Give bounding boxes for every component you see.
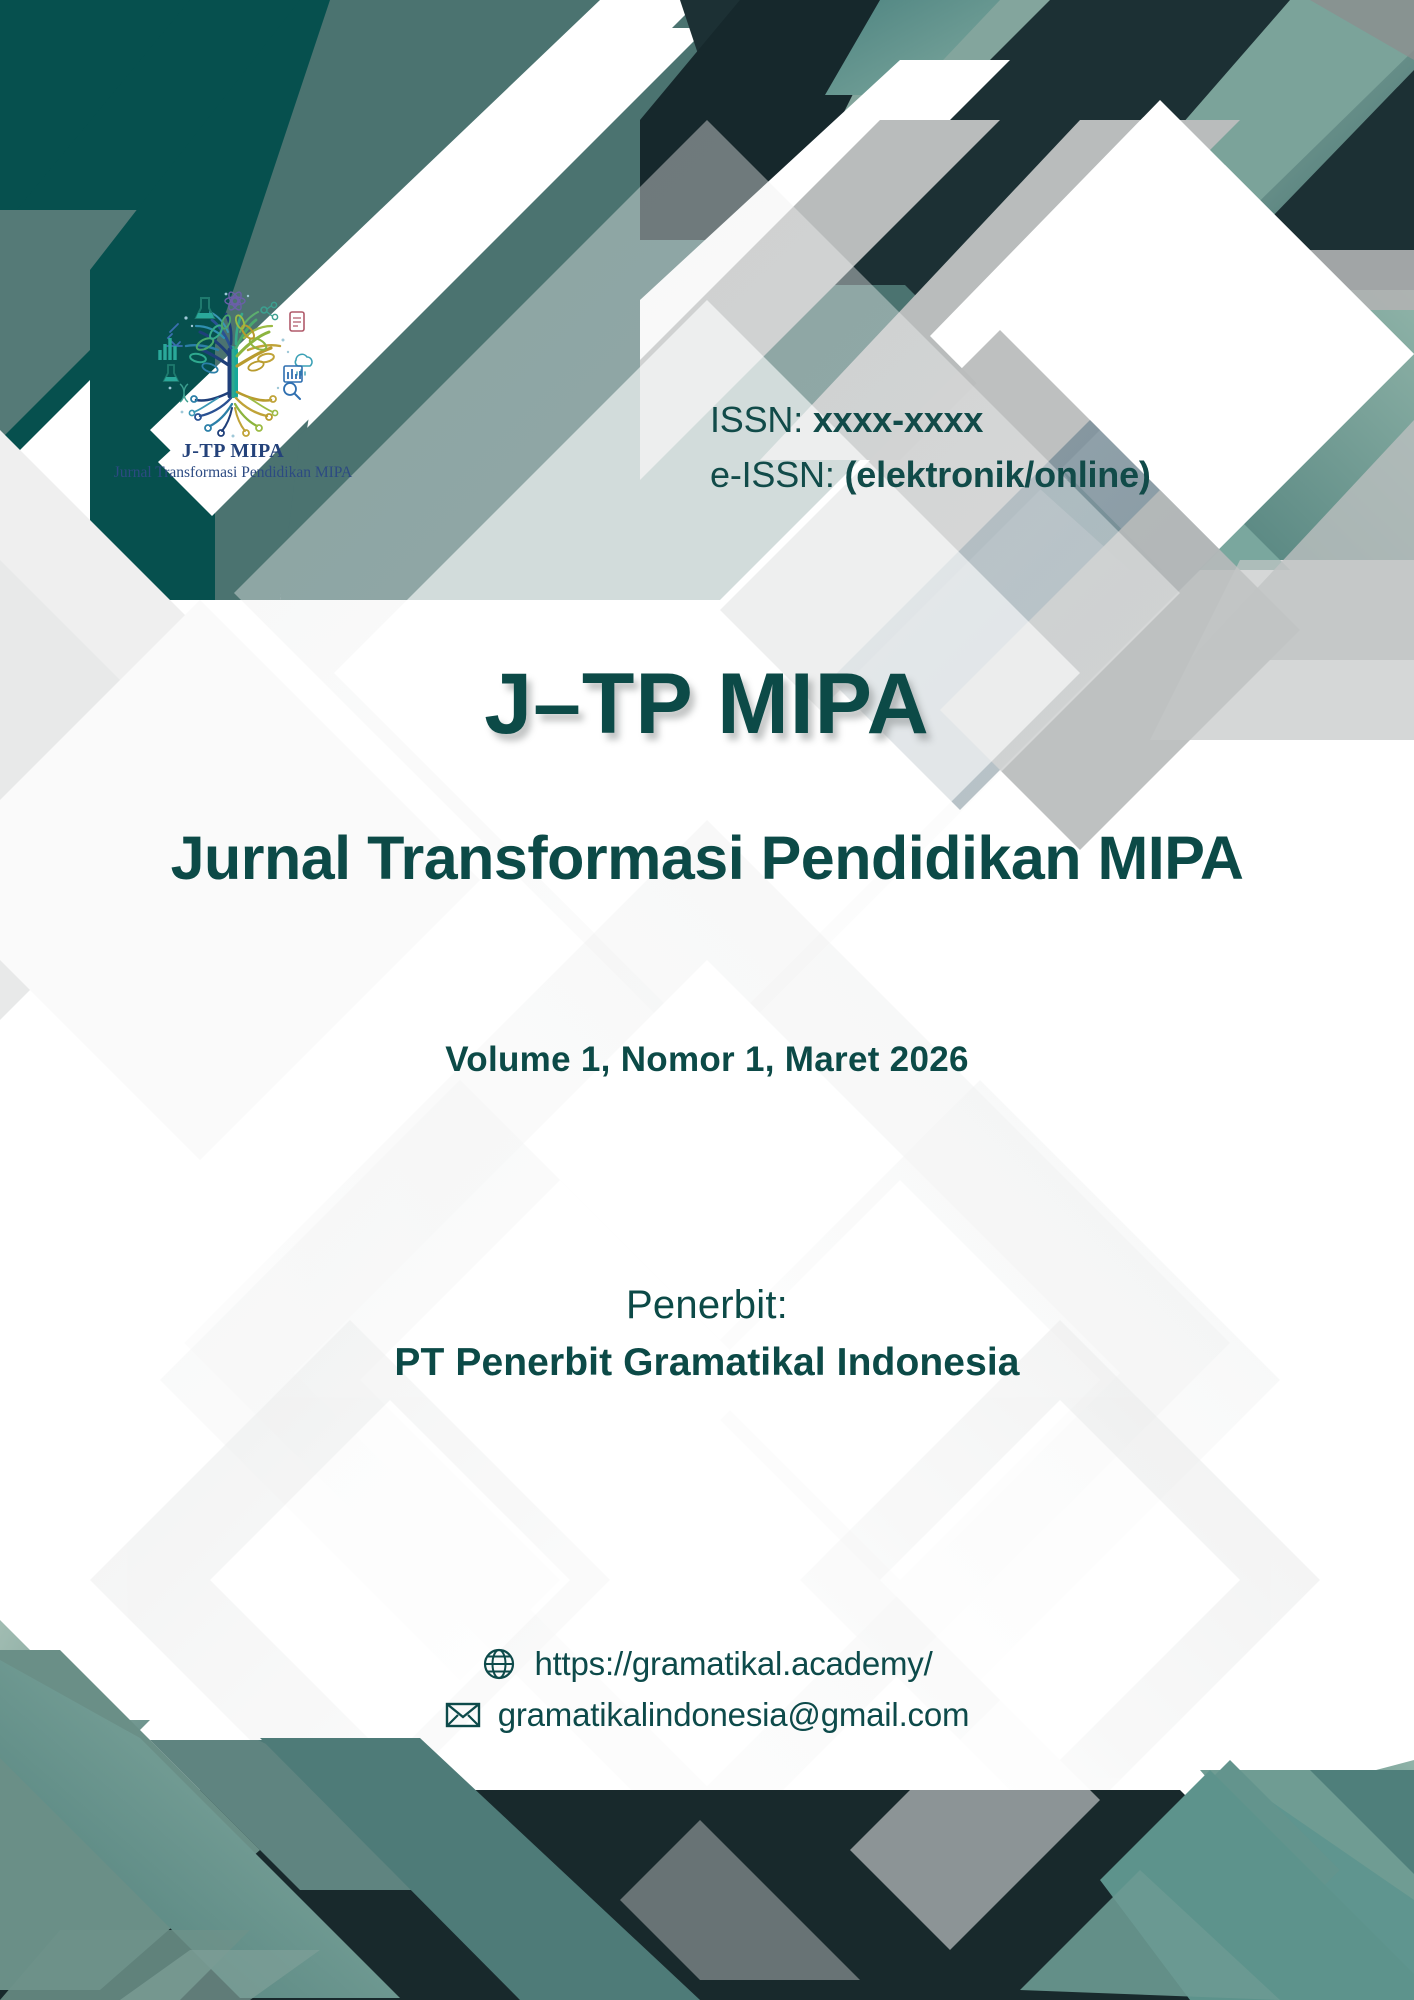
- volume-issue-line: Volume 1, Nomor 1, Maret 2026: [0, 1040, 1414, 1080]
- dna-icon: [180, 384, 188, 402]
- science-tree-icon: [138, 288, 328, 438]
- envelope-icon: [445, 1701, 481, 1729]
- issn-electronic-line: e-ISSN: (elektronik/online): [710, 448, 1151, 503]
- molecule-icon: [261, 302, 278, 319]
- issn-print-value: xxxx-xxxx: [813, 399, 983, 440]
- journal-acronym-title: J–TP MIPA: [0, 655, 1414, 754]
- journal-cover: J-TP MIPA Jurnal Transformasi Pendidikan…: [0, 0, 1414, 2000]
- globe-icon: [481, 1646, 517, 1682]
- journal-logo: J-TP MIPA Jurnal Transformasi Pendidikan…: [108, 288, 358, 482]
- bar-chart-right-icon: [284, 366, 302, 382]
- email-row[interactable]: gramatikalindonesia@gmail.com: [0, 1696, 1414, 1734]
- bar-chart-icon: [160, 338, 175, 360]
- issn-block: ISSN: xxxx-xxxx e-ISSN: (elektronik/onli…: [710, 393, 1151, 502]
- email-address[interactable]: gramatikalindonesia@gmail.com: [498, 1696, 970, 1734]
- journal-full-title: Jurnal Transformasi Pendidikan MIPA: [80, 820, 1334, 897]
- flask-small-icon: [164, 365, 178, 381]
- website-url[interactable]: https://gramatikal.academy/: [534, 1645, 932, 1683]
- publisher-name: PT Penerbit Gramatikal Indonesia: [0, 1341, 1414, 1385]
- issn-print-line: ISSN: xxxx-xxxx: [710, 393, 1151, 448]
- flask-icon: [196, 298, 214, 318]
- logo-subtitle: Jurnal Transformasi Pendidikan MIPA: [108, 464, 358, 482]
- issn-print-label: ISSN:: [710, 399, 803, 440]
- publisher-block: Penerbit: PT Penerbit Gramatikal Indones…: [0, 1283, 1414, 1385]
- contact-block: https://gramatikal.academy/ gramatikalin…: [0, 1645, 1414, 1747]
- publisher-label: Penerbit:: [0, 1283, 1414, 1328]
- clipboard-icon: [290, 312, 304, 331]
- cloud-icon: [295, 354, 312, 375]
- magnifier-icon: [284, 383, 300, 399]
- issn-electronic-label: e-ISSN:: [710, 454, 835, 495]
- website-row[interactable]: https://gramatikal.academy/: [0, 1645, 1414, 1683]
- issn-electronic-value: (elektronik/online): [844, 454, 1150, 495]
- logo-title: J-TP MIPA: [108, 440, 358, 463]
- atom-icon: [225, 290, 245, 311]
